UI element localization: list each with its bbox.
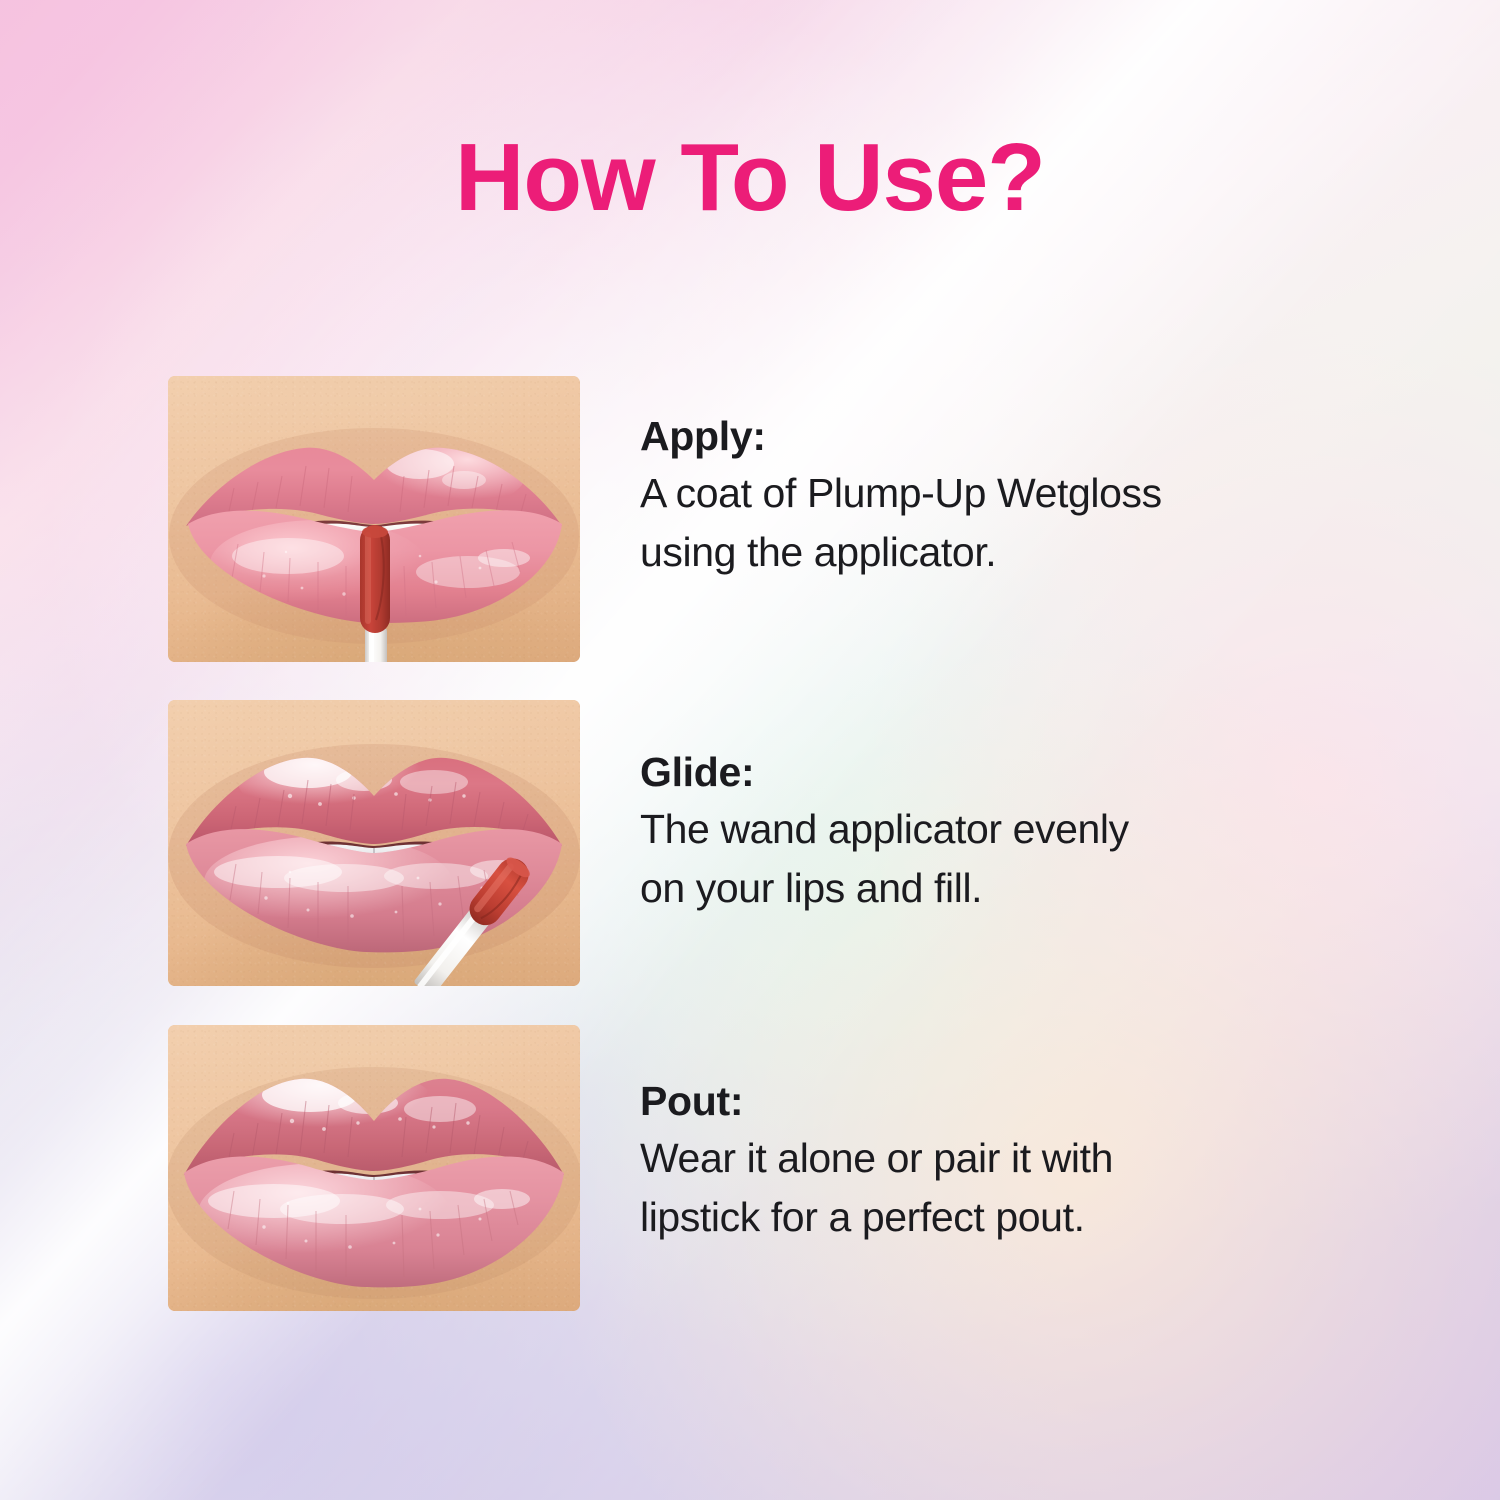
step-heading: Glide: bbox=[640, 748, 1340, 796]
step-image-apply bbox=[168, 376, 580, 662]
step-body: The wand applicator evenly on your lips … bbox=[640, 800, 1340, 916]
step-text-apply: Apply: A coat of Plump-Up Wetgloss using… bbox=[640, 412, 1340, 581]
step-heading: Pout: bbox=[640, 1077, 1340, 1125]
step-heading: Apply: bbox=[640, 412, 1340, 460]
step-image-glide bbox=[168, 700, 580, 986]
step-body-line-1: A coat of Plump-Up Wetgloss bbox=[640, 470, 1162, 516]
step-row-apply: Apply: A coat of Plump-Up Wetgloss using… bbox=[168, 376, 1348, 666]
step-body-line-2: on your lips and fill. bbox=[640, 865, 982, 911]
step-body: A coat of Plump-Up Wetgloss using the ap… bbox=[640, 464, 1340, 580]
step-text-pout: Pout: Wear it alone or pair it with lips… bbox=[640, 1077, 1340, 1246]
lips-illustration-apply bbox=[168, 376, 580, 662]
lips-illustration-pout bbox=[168, 1025, 580, 1311]
step-body: Wear it alone or pair it with lipstick f… bbox=[640, 1129, 1340, 1245]
step-body-line-1: Wear it alone or pair it with bbox=[640, 1135, 1113, 1181]
step-text-glide: Glide: The wand applicator evenly on you… bbox=[640, 748, 1340, 917]
step-body-line-2: lipstick for a perfect pout. bbox=[640, 1194, 1085, 1240]
step-body-line-2: using the applicator. bbox=[640, 529, 996, 575]
step-row-glide: Glide: The wand applicator evenly on you… bbox=[168, 700, 1348, 990]
step-body-line-1: The wand applicator evenly bbox=[640, 806, 1129, 852]
page-title: How To Use? bbox=[0, 128, 1500, 229]
step-row-pout: Pout: Wear it alone or pair it with lips… bbox=[168, 1025, 1348, 1315]
lips-illustration-glide bbox=[168, 700, 580, 986]
step-image-pout bbox=[168, 1025, 580, 1311]
how-to-use-panel: How To Use? bbox=[0, 0, 1500, 1500]
